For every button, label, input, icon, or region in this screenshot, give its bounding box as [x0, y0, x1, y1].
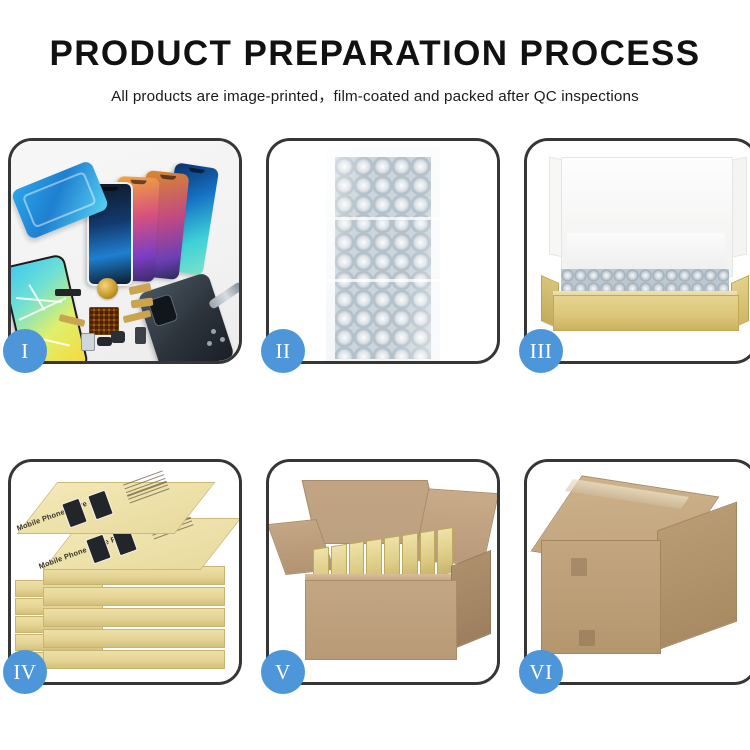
step-3-illustration: [527, 141, 750, 361]
battery-cell-icon: [135, 327, 146, 344]
sim-tray-icon: [81, 333, 95, 351]
speaker-coil-icon: [97, 278, 118, 299]
retail-box-front-1: [43, 650, 225, 669]
bubble-wrap-pouch-icon: [326, 147, 440, 361]
earpiece-mesh-icon: [97, 337, 112, 346]
step-panel-2: II: [266, 138, 500, 364]
retail-box-front-2: [43, 629, 225, 648]
page-title: PRODUCT PREPARATION PROCESS: [0, 36, 750, 73]
retail-box-stacks: Mobile Phone Spare Parts Mobile Phone Sp…: [11, 462, 239, 682]
step-panel-6: VI: [524, 459, 750, 685]
step-panel-3: III: [524, 138, 750, 364]
sealed-carton-front-panel: [541, 540, 661, 654]
step-1-illustration: [11, 141, 239, 361]
page-header: PRODUCT PREPARATION PROCESS All products…: [0, 0, 750, 106]
step-panel-5: V: [266, 459, 500, 685]
step-badge-1: I: [3, 329, 47, 373]
step-2-illustration: [269, 141, 497, 361]
step-badge-2: II: [261, 329, 305, 373]
step-panel-4: Mobile Phone Spare Parts Mobile Phone Sp…: [8, 459, 242, 685]
step-badge-4: IV: [3, 650, 47, 694]
carton-content-item: [420, 530, 436, 578]
step-badge-6: VI: [519, 650, 563, 694]
mailer-tray-front: [553, 295, 739, 331]
carton-side-panel: [451, 550, 491, 650]
small-part-bar-icon: [55, 289, 81, 296]
step-panel-1: I: [8, 138, 242, 364]
camera-module-icon: [111, 331, 125, 343]
step-4-illustration: Mobile Phone Spare Parts Mobile Phone Sp…: [11, 462, 239, 682]
step-badge-5: V: [261, 650, 305, 694]
retail-box-front-3: [43, 608, 225, 627]
page-subtitle: All products are image-printed，film-coat…: [0, 84, 750, 106]
process-step-grid: I II III: [8, 138, 742, 685]
carton-seam-tab-upper: [571, 558, 587, 576]
step-badge-3: III: [519, 329, 563, 373]
step-5-illustration: [269, 462, 497, 682]
retail-box-front-4: [43, 587, 225, 606]
carton-front-panel: [305, 580, 457, 660]
screw-1-icon: [211, 329, 216, 334]
bubble-wrap-sheen: [326, 147, 440, 361]
screw-3-icon: [207, 341, 212, 346]
carton-seam-tab-lower: [579, 630, 595, 646]
screw-2-icon: [220, 337, 225, 342]
step-6-illustration: [527, 462, 750, 682]
